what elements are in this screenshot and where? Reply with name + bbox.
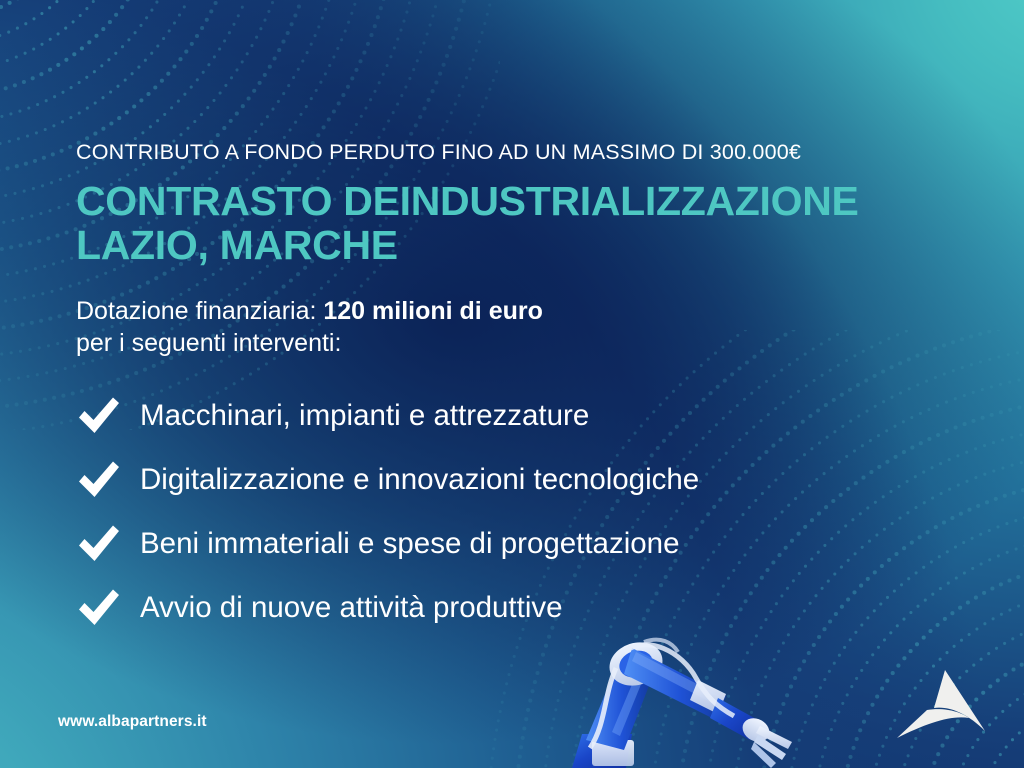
website-url[interactable]: www.albapartners.it [58,713,207,731]
list-item: Beni immateriali e spese di progettazion… [76,521,956,567]
list-item-label: Macchinari, impianti e attrezzature [140,401,589,431]
alba-partners-logo-icon [893,663,993,748]
subheadline-prefix: Dotazione finanziaria: [76,297,323,325]
subheadline: Dotazione finanziaria: 120 milioni di eu… [76,295,956,359]
subheadline-amount: 120 milioni di euro [323,297,543,325]
check-icon [76,524,122,564]
benefits-list: Macchinari, impianti e attrezzature Digi… [76,393,956,631]
list-item: Avvio di nuove attività produttive [76,585,956,631]
subheadline-line-2: per i seguenti interventi: [76,327,956,359]
kicker-text: CONTRIBUTO A FONDO PERDUTO FINO AD UN MA… [76,140,956,165]
list-item: Macchinari, impianti e attrezzature [76,393,956,439]
headline-line-1: CONTRASTO DEINDUSTRIALIZZAZIONE [76,178,859,224]
list-item-label: Beni immateriali e spese di progettazion… [140,529,679,559]
list-item-label: Avvio di nuove attività produttive [140,593,563,623]
slide-content: CONTRIBUTO A FONDO PERDUTO FINO AD UN MA… [76,140,956,649]
page-title: CONTRASTO DEINDUSTRIALIZZAZIONE LAZIO, M… [76,179,956,268]
promo-slide: CONTRIBUTO A FONDO PERDUTO FINO AD UN MA… [0,0,1024,768]
list-item: Digitalizzazione e innovazioni tecnologi… [76,457,956,503]
check-icon [76,460,122,500]
headline-line-2: LAZIO, MARCHE [76,223,956,267]
check-icon [76,588,122,628]
check-icon [76,396,122,436]
list-item-label: Digitalizzazione e innovazioni tecnologi… [140,465,699,495]
